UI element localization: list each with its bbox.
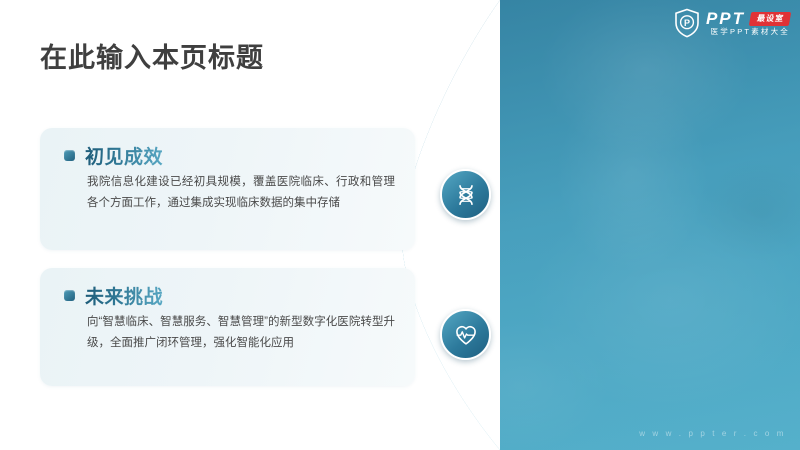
shield-icon: P xyxy=(674,8,700,38)
dna-icon-badge[interactable] xyxy=(440,169,491,220)
square-bullet-icon xyxy=(64,290,75,301)
dna-icon xyxy=(453,182,479,208)
footer-watermark: w w w . p p t e r . c o m xyxy=(639,429,786,438)
logo-badge: 最设室 xyxy=(749,12,791,26)
content-card[interactable]: 初见成效 我院信息化建设已经初具规模，覆盖医院临床、行政和管理各个方面工作，通过… xyxy=(40,128,415,250)
shield-letter: P xyxy=(684,18,690,28)
card-title: 未来挑战 xyxy=(85,282,163,309)
brand-logo[interactable]: P PPT 最设室 医学PPT素材大全 xyxy=(674,8,790,38)
card-body-text: 我院信息化建设已经初具规模，覆盖医院临床、行政和管理各个方面工作，通过集成实现临… xyxy=(87,172,395,214)
card-title: 初见成效 xyxy=(85,142,163,169)
heartbeat-icon xyxy=(453,322,479,348)
card-header: 初见成效 xyxy=(64,142,163,169)
heartbeat-icon-badge[interactable] xyxy=(440,309,491,360)
content-card[interactable]: 未来挑战 向“智慧临床、智慧服务、智慧管理”的新型数字化医院转型升级，全面推广闭… xyxy=(40,268,415,386)
slide-canvas: 在此输入本页标题 初见成效 我院信息化建设已经初具规模，覆盖医院临床、行政和管理… xyxy=(0,0,800,450)
page-title: 在此输入本页标题 xyxy=(40,36,264,75)
card-header: 未来挑战 xyxy=(64,282,163,309)
card-body-text: 向“智慧临床、智慧服务、智慧管理”的新型数字化医院转型升级，全面推广闭环管理，强… xyxy=(87,312,395,354)
square-bullet-icon xyxy=(64,150,75,161)
logo-brand-text: PPT xyxy=(706,10,745,27)
logo-text-block: PPT 最设室 医学PPT素材大全 xyxy=(706,10,790,36)
logo-primary-row: PPT 最设室 xyxy=(706,10,790,27)
logo-subtitle: 医学PPT素材大全 xyxy=(706,28,790,36)
